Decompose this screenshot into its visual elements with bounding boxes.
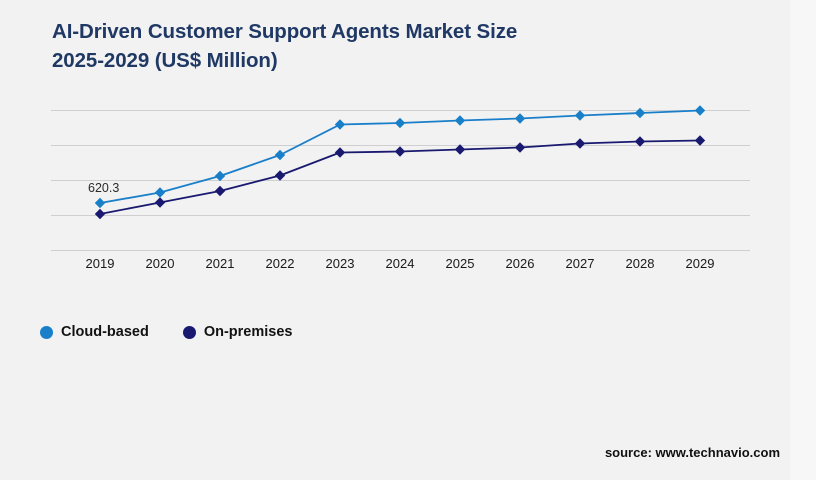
data-point-marker — [155, 197, 165, 207]
data-point-marker — [515, 113, 525, 123]
data-point-marker — [695, 135, 705, 145]
series-markers — [95, 105, 705, 219]
data-point-marker — [275, 150, 285, 160]
data-point-marker — [215, 186, 225, 196]
x-axis-tick-2025: 2025 — [446, 256, 475, 271]
x-axis-tick-2024: 2024 — [386, 256, 415, 271]
legend-item-cloud-based[interactable]: Cloud-based — [40, 324, 149, 340]
first-point-data-label: 620.3 — [88, 181, 119, 195]
data-point-marker — [515, 142, 525, 152]
x-axis-tick-2028: 2028 — [626, 256, 655, 271]
line-chart-svg — [51, 104, 750, 252]
gridlines — [51, 111, 750, 251]
x-axis-tick-2026: 2026 — [506, 256, 535, 271]
data-point-marker — [335, 119, 345, 129]
data-point-marker — [95, 198, 105, 208]
data-point-marker — [335, 147, 345, 157]
data-point-marker — [395, 146, 405, 156]
data-point-marker — [455, 115, 465, 125]
legend-item-on-premises[interactable]: On-premises — [183, 324, 293, 340]
data-point-marker — [155, 187, 165, 197]
data-point-marker — [575, 138, 585, 148]
data-point-marker — [575, 110, 585, 120]
plot-area — [51, 104, 750, 252]
data-point-marker — [275, 170, 285, 180]
x-axis-tick-2027: 2027 — [566, 256, 595, 271]
data-point-marker — [635, 108, 645, 118]
page-title: AI-Driven Customer Support Agents Market… — [52, 17, 752, 75]
x-axis-tick-2019: 2019 — [86, 256, 115, 271]
data-point-marker — [695, 105, 705, 115]
data-point-marker — [395, 118, 405, 128]
source-attribution: source: www.technavio.com — [605, 445, 780, 460]
circle-icon — [183, 326, 196, 339]
right-edge-strip — [790, 0, 816, 480]
x-axis-tick-2021: 2021 — [206, 256, 235, 271]
x-axis-labels: 2019202020212022202320242025202620272028… — [51, 256, 750, 276]
chart-legend: Cloud-basedOn-premises — [40, 324, 292, 340]
x-axis-tick-2029: 2029 — [686, 256, 715, 271]
chart-canvas: AI-Driven Customer Support Agents Market… — [0, 0, 816, 480]
x-axis-tick-2023: 2023 — [326, 256, 355, 271]
circle-icon — [40, 326, 53, 339]
data-point-marker — [95, 209, 105, 219]
legend-label: Cloud-based — [61, 324, 149, 340]
x-axis-tick-2020: 2020 — [146, 256, 175, 271]
data-point-marker — [215, 171, 225, 181]
x-axis-tick-2022: 2022 — [266, 256, 295, 271]
legend-label: On-premises — [204, 324, 293, 340]
